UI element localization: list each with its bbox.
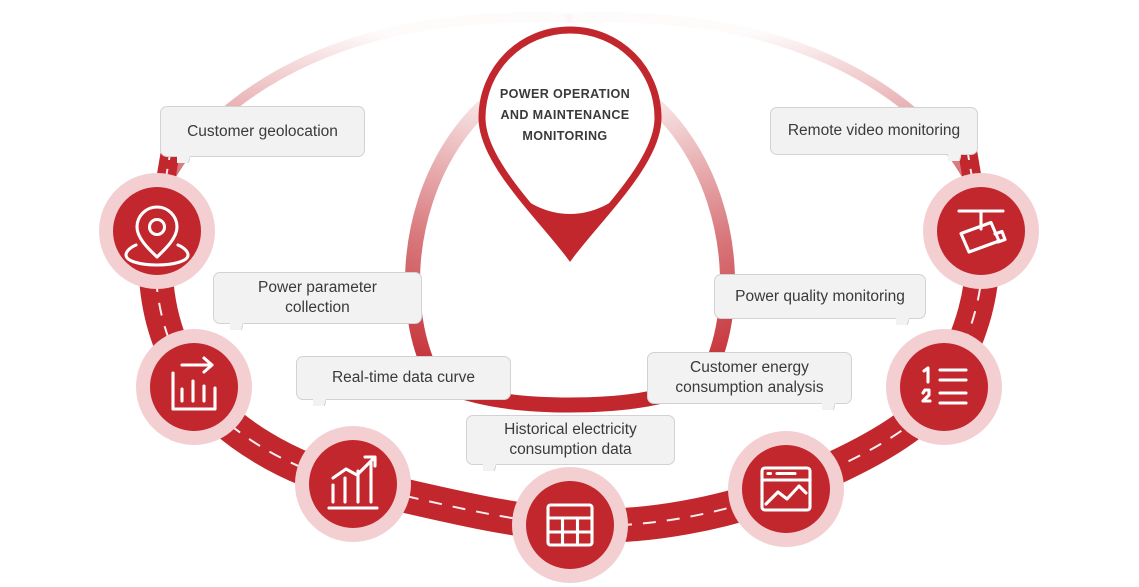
- callout-tail: [177, 155, 190, 167]
- label-text: Customer energy consumption analysis: [675, 358, 823, 398]
- callout-tail: [822, 402, 835, 414]
- label-text: Power parameter collection: [258, 278, 377, 318]
- label-customer-geolocation[interactable]: Customer geolocation: [160, 106, 365, 157]
- callout-tail: [230, 322, 243, 334]
- label-real-time-data-curve[interactable]: Real-time data curve: [296, 356, 511, 400]
- label-text-line2: consumption analysis: [675, 379, 823, 396]
- center-pin-title-line3: MONITORING: [489, 126, 641, 147]
- infographic-canvas: POWER OPERATION AND MAINTENANCE MONITORI…: [0, 0, 1139, 587]
- label-historical-electricity-consumption-data[interactable]: Historical electricity consumption data: [466, 415, 675, 465]
- callout-tail: [483, 463, 496, 475]
- label-text: Historical electricity consumption data: [504, 420, 637, 460]
- label-customer-energy-consumption-analysis[interactable]: Customer energy consumption analysis: [647, 352, 852, 404]
- callout-tail: [948, 153, 961, 165]
- label-text-line1: Customer energy: [690, 359, 809, 376]
- callout-tail: [313, 398, 326, 410]
- label-text: Real-time data curve: [332, 368, 475, 388]
- label-power-parameter-collection[interactable]: Power parameter collection: [213, 272, 422, 324]
- label-text: Customer geolocation: [187, 122, 338, 142]
- label-text-line2: consumption data: [509, 441, 631, 458]
- label-remote-video-monitoring[interactable]: Remote video monitoring: [770, 107, 978, 155]
- label-text-line1: Power parameter: [258, 279, 377, 296]
- label-power-quality-monitoring[interactable]: Power quality monitoring: [714, 274, 926, 319]
- center-pin-title-line1: POWER OPERATION: [489, 84, 641, 105]
- label-text: Remote video monitoring: [788, 121, 960, 141]
- center-pin-title-line2: AND MAINTENANCE: [489, 105, 641, 126]
- label-text: Power quality monitoring: [735, 287, 905, 307]
- center-pin-title: POWER OPERATION AND MAINTENANCE MONITORI…: [489, 84, 641, 146]
- callout-tail: [896, 317, 909, 329]
- label-text-line1: Historical electricity: [504, 421, 637, 438]
- label-text-line2: collection: [285, 299, 350, 316]
